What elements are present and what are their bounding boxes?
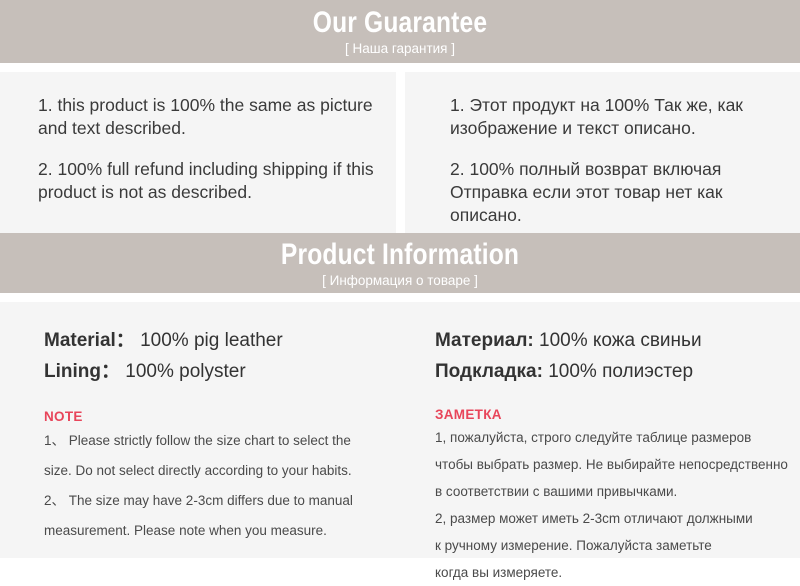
product-banner-title: Product Information bbox=[72, 238, 728, 272]
guarantee-panel-divider bbox=[396, 72, 405, 233]
spec-label-material-ru: Материал: bbox=[435, 330, 534, 351]
product-column-russian: Материал: 100% кожа свиньи Подкладка: 10… bbox=[420, 302, 800, 558]
guarantee-banner: Our Guarantee [ Наша гарантия ] bbox=[0, 0, 800, 63]
note-line: чтобы выбрать размер. Не выбирайте непос… bbox=[435, 451, 790, 478]
note-line: в соответствии с вашими привычками. bbox=[435, 478, 790, 505]
note-line: 1、 Please strictly follow the size chart… bbox=[44, 426, 408, 456]
note-heading-english: NOTE bbox=[44, 409, 408, 424]
spec-label-lining: Lining： bbox=[44, 361, 120, 382]
spec-row-material-ru: Материал: 100% кожа свиньи bbox=[435, 325, 790, 356]
spec-label-lining-ru: Подкладка: bbox=[435, 361, 543, 382]
note-line: когда вы измеряете. bbox=[435, 559, 790, 586]
product-column-english: Material： 100% pig leather Lining： 100% … bbox=[0, 302, 420, 558]
note-line: measurement. Please note when you measur… bbox=[44, 516, 408, 546]
guarantee-item-ru-2: 2. 100% полный возврат включая Отправка … bbox=[450, 158, 786, 227]
note-line: 2, размер может иметь 2-3cm отличают дол… bbox=[435, 505, 790, 532]
guarantee-item-en-2: 2. 100% full refund including shipping i… bbox=[38, 158, 374, 204]
spec-value-lining-ru: 100% полиэстер bbox=[548, 361, 693, 382]
spec-row-material: Material： 100% pig leather bbox=[44, 325, 408, 356]
guarantee-panel-english: 1. this product is 100% the same as pict… bbox=[0, 72, 396, 233]
guarantee-item-en-1: 1. this product is 100% the same as pict… bbox=[38, 94, 374, 140]
note-line: 2、 The size may have 2-3cm differs due t… bbox=[44, 486, 408, 516]
spec-label-material: Material： bbox=[44, 330, 135, 351]
guarantee-banner-subtitle: [ Наша гарантия ] bbox=[0, 40, 800, 58]
product-banner-subtitle: [ Информация о товаре ] bbox=[0, 272, 800, 290]
note-line: к ручному измерение. Пожалуйста заметьте bbox=[435, 532, 790, 559]
spec-value-lining: 100% polyster bbox=[125, 361, 245, 382]
guarantee-banner-title: Our Guarantee bbox=[72, 6, 728, 40]
guarantee-section: 1. this product is 100% the same as pict… bbox=[0, 72, 800, 233]
note-body-english: 1、 Please strictly follow the size chart… bbox=[44, 426, 408, 546]
spec-value-material-ru: 100% кожа свиньи bbox=[539, 330, 702, 351]
note-heading-russian: ЗАМЕТКА bbox=[435, 407, 790, 422]
product-information-banner: Product Information [ Информация о товар… bbox=[0, 233, 800, 293]
product-information-section: Material： 100% pig leather Lining： 100% … bbox=[0, 302, 800, 558]
note-body-russian: 1, пожалуйста, строго следуйте таблице р… bbox=[435, 424, 790, 586]
note-line: size. Do not select directly according t… bbox=[44, 456, 408, 486]
guarantee-item-ru-1: 1. Этот продукт на 100% Так же, как изоб… bbox=[450, 94, 786, 140]
spec-row-lining-ru: Подкладка: 100% полиэстер bbox=[435, 356, 790, 387]
spec-value-material: 100% pig leather bbox=[140, 330, 283, 351]
note-line: 1, пожалуйста, строго следуйте таблице р… bbox=[435, 424, 790, 451]
guarantee-panel-russian: 1. Этот продукт на 100% Так же, как изоб… bbox=[405, 72, 800, 233]
spec-row-lining: Lining： 100% polyster bbox=[44, 356, 408, 387]
